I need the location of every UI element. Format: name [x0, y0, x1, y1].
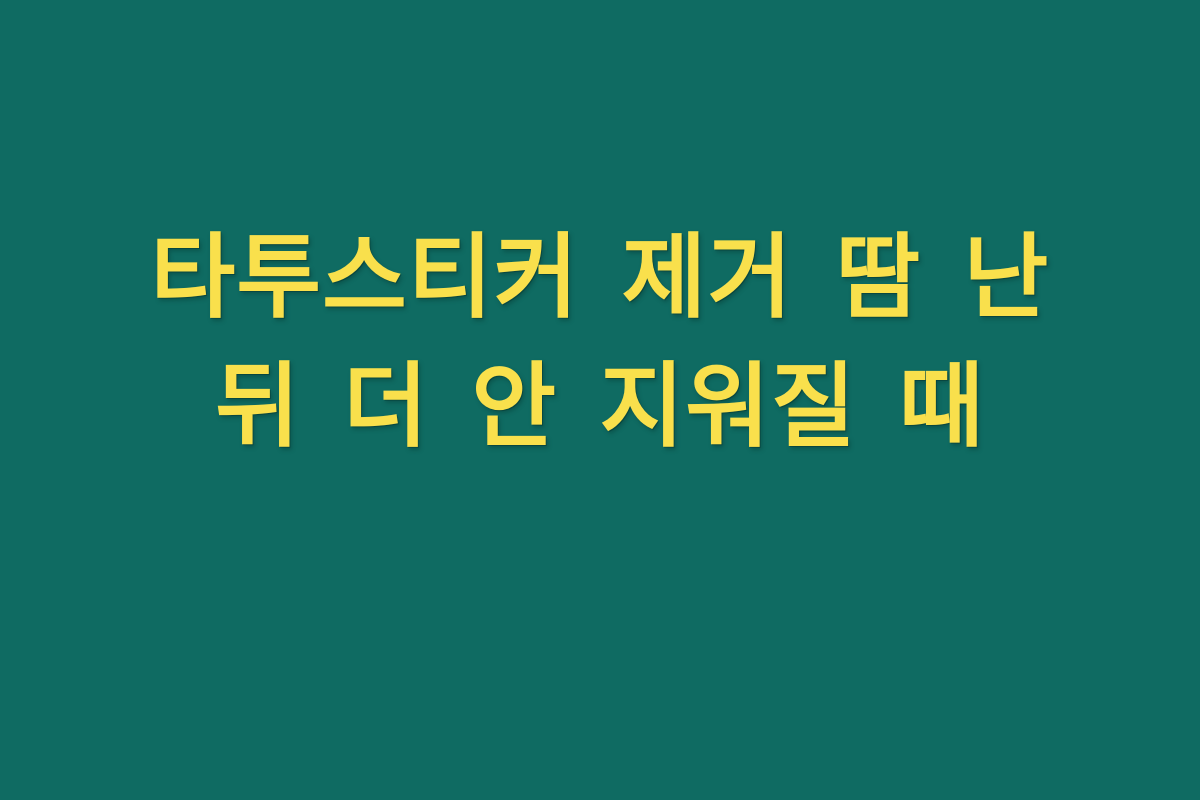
headline-line-1: 타투스티커 제거 땀 난 [70, 210, 1130, 345]
headline-line-2: 뒤 더 안 지워질 때 [70, 339, 1130, 474]
title-card: 타투스티커 제거 땀 난 뒤 더 안 지워질 때 [0, 0, 1200, 800]
headline-text: 타투스티커 제거 땀 난 뒤 더 안 지워질 때 [70, 210, 1130, 475]
